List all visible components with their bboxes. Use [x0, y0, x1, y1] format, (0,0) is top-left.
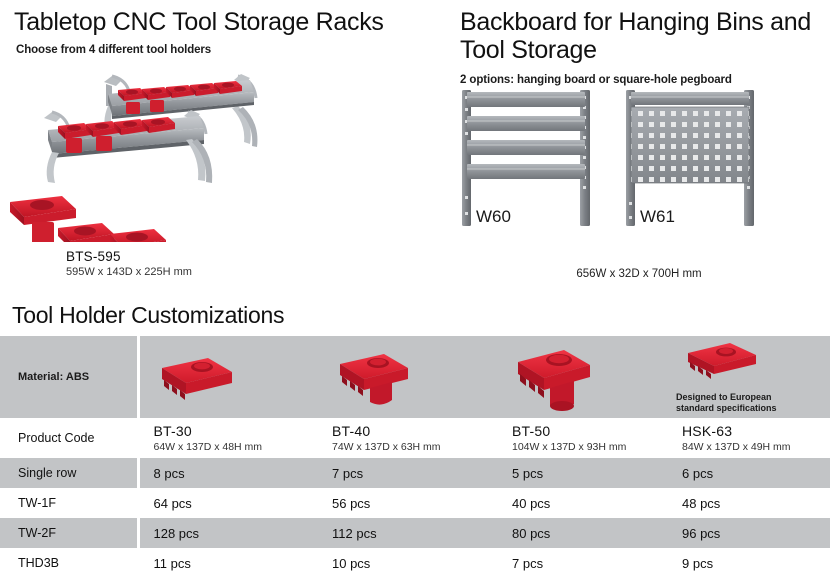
rack-product-code: BTS-595: [66, 249, 192, 264]
w60-label: W60: [476, 207, 511, 226]
backboard-title: Backboard for Hanging Bins and Tool Stor…: [448, 0, 830, 64]
row-label-tw-1f: TW-1F: [0, 488, 138, 518]
holder-image-cell-bt30: [138, 336, 318, 418]
row-label-tw-2f: TW-2F: [0, 518, 138, 548]
cell-single-row-hsk63: 6 pcs: [668, 458, 830, 488]
table-row-single-row: Single row 8 pcs 7 pcs 5 pcs 6 pcs: [0, 458, 830, 488]
product-dims-hsk63: 84W x 137D x 49H mm: [682, 441, 830, 453]
w60-hanging-board: W60: [462, 90, 590, 226]
backboard-subtitle: 2 options: hanging board or square-hole …: [448, 64, 830, 86]
w61-label: W61: [640, 207, 675, 226]
backboard-dims: 656W x 32D x 700H mm: [448, 268, 830, 280]
cell-tw-1f-bt40: 56 pcs: [318, 488, 498, 518]
rack-caption: BTS-595 595W x 143D x 225H mm: [66, 249, 192, 278]
cell-single-row-bt40: 7 pcs: [318, 458, 498, 488]
racks-subtitle: Choose from 4 different tool holders: [0, 36, 448, 56]
rack-product-dims: 595W x 143D x 225H mm: [66, 266, 192, 278]
cell-tw-2f-bt50: 80 pcs: [498, 518, 668, 548]
row-label-single-row: Single row: [0, 458, 138, 488]
cell-tw-2f-hsk63: 96 pcs: [668, 518, 830, 548]
product-code-bt40: BT-40: [332, 423, 498, 439]
euro-note-line-1: Designed to European: [676, 392, 777, 403]
product-code-hsk63: HSK-63: [682, 423, 830, 439]
holder-image-cell-hsk63: Designed to European standard specificat…: [668, 336, 830, 418]
table-row-tw-2f: TW-2F 128 pcs 112 pcs 80 pcs 96 pcs: [0, 518, 830, 548]
cell-tw-1f-bt30: 64 pcs: [138, 488, 318, 518]
product-code-bt30: BT-30: [154, 423, 319, 439]
table-row-product-code: Product Code BT-30 64W x 137D x 48H mm B…: [0, 418, 830, 458]
backboard-illustration: W60 W61: [448, 86, 830, 246]
cell-tw-1f-bt50: 40 pcs: [498, 488, 668, 518]
cell-product-code-bt40: BT-40 74W x 137D x 63H mm: [318, 418, 498, 458]
product-code-bt50: BT-50: [512, 423, 668, 439]
top-section: Tabletop CNC Tool Storage Racks Choose f…: [0, 0, 830, 298]
loose-holder-3: [110, 229, 166, 242]
table-row-thd3b: THD3B 11 pcs 10 pcs 7 pcs 9 pcs: [0, 548, 830, 578]
cell-thd3b-hsk63: 9 pcs: [668, 548, 830, 578]
tool-holder-spec-table: Material: ABS: [0, 336, 830, 578]
material-label: Material: ABS: [0, 336, 138, 418]
row-label-product-code: Product Code: [0, 418, 138, 458]
cnc-racks-panel: Tabletop CNC Tool Storage Racks Choose f…: [0, 0, 448, 298]
table-row-tw-1f: TW-1F 64 pcs 56 pcs 40 pcs 48 pcs: [0, 488, 830, 518]
cell-thd3b-bt30: 11 pcs: [138, 548, 318, 578]
cnc-rack-illustration: [0, 62, 448, 242]
cell-tw-2f-bt40: 112 pcs: [318, 518, 498, 548]
rack-front: [44, 110, 212, 183]
cell-product-code-bt50: BT-50 104W x 137D x 93H mm: [498, 418, 668, 458]
backboard-panel: Backboard for Hanging Bins and Tool Stor…: [448, 0, 830, 298]
cell-thd3b-bt50: 7 pcs: [498, 548, 668, 578]
cell-tw-1f-hsk63: 48 pcs: [668, 488, 830, 518]
holder-image-cell-bt40: [318, 336, 498, 418]
product-dims-bt50: 104W x 137D x 93H mm: [512, 441, 668, 453]
table-header-row: Material: ABS: [0, 336, 830, 418]
holder-icon-bt30: [154, 342, 246, 404]
cell-single-row-bt30: 8 pcs: [138, 458, 318, 488]
holder-icon-bt50: [512, 342, 604, 418]
cell-single-row-bt50: 5 pcs: [498, 458, 668, 488]
holder-icon-bt40: [332, 342, 424, 412]
product-dims-bt40: 74W x 137D x 63H mm: [332, 441, 498, 453]
cell-tw-2f-bt30: 128 pcs: [138, 518, 318, 548]
euro-note-line-2: standard specifications: [676, 403, 777, 414]
customizations-title: Tool Holder Customizations: [0, 298, 830, 336]
w61-pegboard: W61: [626, 90, 754, 226]
loose-holder-2: [58, 223, 114, 242]
row-label-thd3b: THD3B: [0, 548, 138, 578]
racks-title: Tabletop CNC Tool Storage Racks: [0, 0, 448, 36]
holder-icon-hsk63: [682, 339, 766, 379]
product-dims-bt30: 64W x 137D x 48H mm: [154, 441, 319, 453]
cell-product-code-hsk63: HSK-63 84W x 137D x 49H mm: [668, 418, 830, 458]
holder-image-cell-bt50: [498, 336, 668, 418]
cell-product-code-bt30: BT-30 64W x 137D x 48H mm: [138, 418, 318, 458]
euro-standard-note: Designed to European standard specificat…: [676, 392, 777, 415]
cell-thd3b-bt40: 10 pcs: [318, 548, 498, 578]
